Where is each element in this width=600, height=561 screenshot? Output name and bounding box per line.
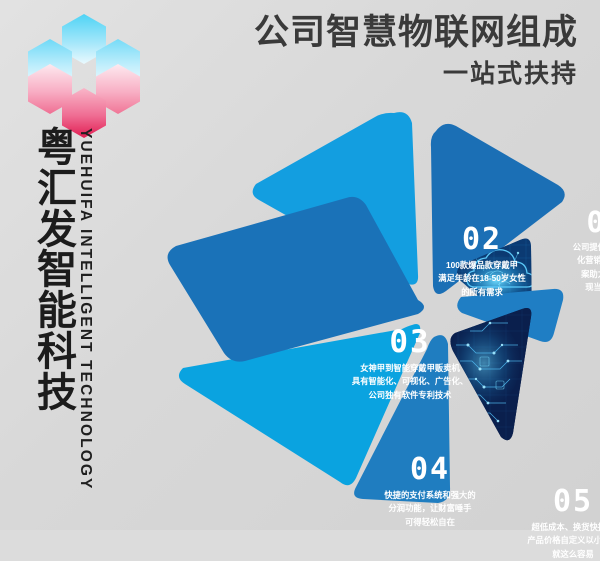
header: 公司智慧物联网组成 一站式扶持 (254, 14, 578, 90)
petal-05-line-1: 产品价格自定义以小搏大 (498, 534, 600, 547)
circuit-tech-artwork (445, 300, 540, 447)
page-subtitle: 一站式扶持 (254, 54, 578, 90)
brand-name-english-vertical: YUEHUIFA INTELLIGENT TECHNOLOGY (76, 128, 94, 498)
company-logo (28, 14, 140, 110)
petal-05-line-2: 就这么容易 (498, 548, 600, 561)
brand-english-text: YUEHUIFA INTELLIGENT TECHNOLOGY (76, 128, 94, 490)
infographic-canvas: 粤 汇 发 智 能 科 技 YUEHUIFA INTELLIGENT TECHN… (0, 0, 600, 530)
page-title: 公司智慧物联网组成 (254, 14, 578, 51)
petal-shapes-svg (150, 95, 600, 530)
petal-diagram: 01 公司提供多种数字 化营销解决化方 案助力代理实 现当地躺赚 02 100款… (150, 95, 600, 530)
